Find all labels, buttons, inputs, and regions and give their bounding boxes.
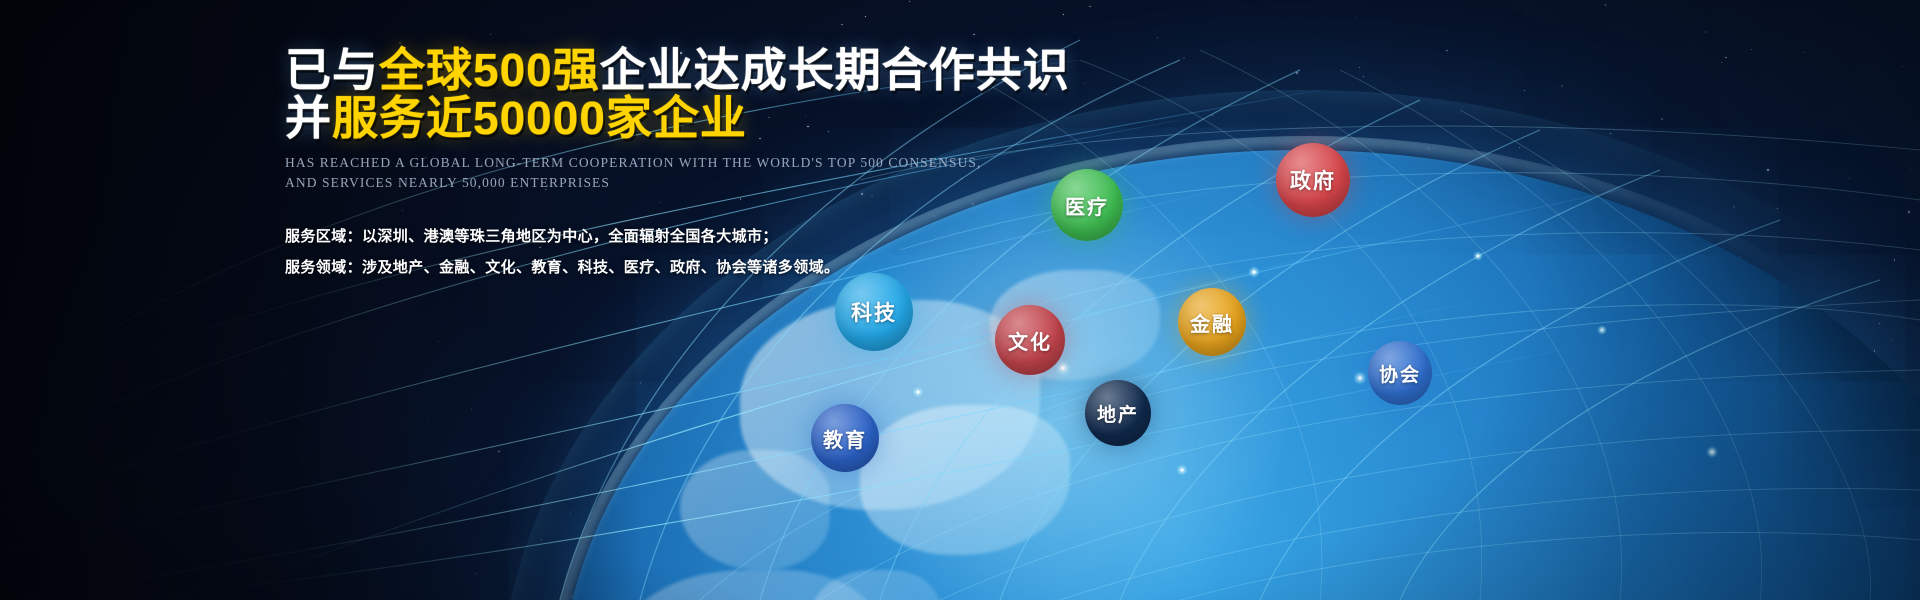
headline-seg-2: 全球500强	[379, 44, 600, 96]
industry-bubble-label: 医疗	[1065, 191, 1109, 220]
english-subtitle: HAS REACHED A GLOBAL LONG-TERM COOPERATI…	[285, 153, 1045, 192]
headline-seg-1: 已与	[285, 44, 379, 96]
english-line-2: AND SERVICES NEARLY 50,000 ENTERPRISES	[285, 173, 1045, 193]
industry-bubble-label: 地产	[1097, 400, 1139, 427]
industry-bubble-label: 金融	[1190, 308, 1234, 337]
industry-bubble-1[interactable]: 政府	[1276, 143, 1350, 217]
industry-bubble-3[interactable]: 金融	[1178, 288, 1246, 356]
industry-bubble-5[interactable]: 文化	[995, 305, 1065, 375]
industry-bubble-6[interactable]: 协会	[1368, 341, 1432, 405]
industry-bubble-label: 协会	[1379, 360, 1421, 387]
headline-seg-4: 并	[285, 92, 332, 144]
english-line-1: HAS REACHED A GLOBAL LONG-TERM COOPERATI…	[285, 153, 1045, 173]
industry-bubble-7[interactable]: 地产	[1085, 380, 1151, 446]
headline-line-2: 并服务近50000家企业	[285, 96, 1045, 140]
industry-bubble-4[interactable]: 科技	[835, 273, 913, 351]
service-fields-line: 服务领域：涉及地产、金融、文化、教育、科技、医疗、政府、协会等诸多领域。	[285, 253, 1045, 284]
headline: 已与全球500强企业达成长期合作共识 并服务近50000家企业	[285, 48, 1045, 140]
headline-seg-3: 企业达成长期合作共识	[600, 44, 1070, 96]
service-area-line: 服务区域：以深圳、港澳等珠三角地区为中心，全面辐射全国各大城市；	[285, 222, 1045, 253]
industry-bubble-label: 教育	[823, 424, 867, 453]
banner-copy: 已与全球500强企业达成长期合作共识 并服务近50000家企业 HAS REAC…	[285, 48, 1045, 284]
industry-bubble-label: 政府	[1290, 165, 1336, 195]
service-description: 服务区域：以深圳、港澳等珠三角地区为中心，全面辐射全国各大城市； 服务领域：涉及…	[285, 222, 1045, 284]
headline-seg-5: 服务近50000家企业	[332, 92, 747, 144]
industry-bubble-label: 科技	[851, 297, 897, 327]
industry-bubble-label: 文化	[1008, 326, 1052, 355]
industry-bubble-2[interactable]: 医疗	[1051, 169, 1123, 241]
headline-line-1: 已与全球500强企业达成长期合作共识	[285, 48, 1045, 92]
hero-banner: 已与全球500强企业达成长期合作共识 并服务近50000家企业 HAS REAC…	[0, 0, 1920, 600]
industry-bubble-8[interactable]: 教育	[811, 404, 879, 472]
